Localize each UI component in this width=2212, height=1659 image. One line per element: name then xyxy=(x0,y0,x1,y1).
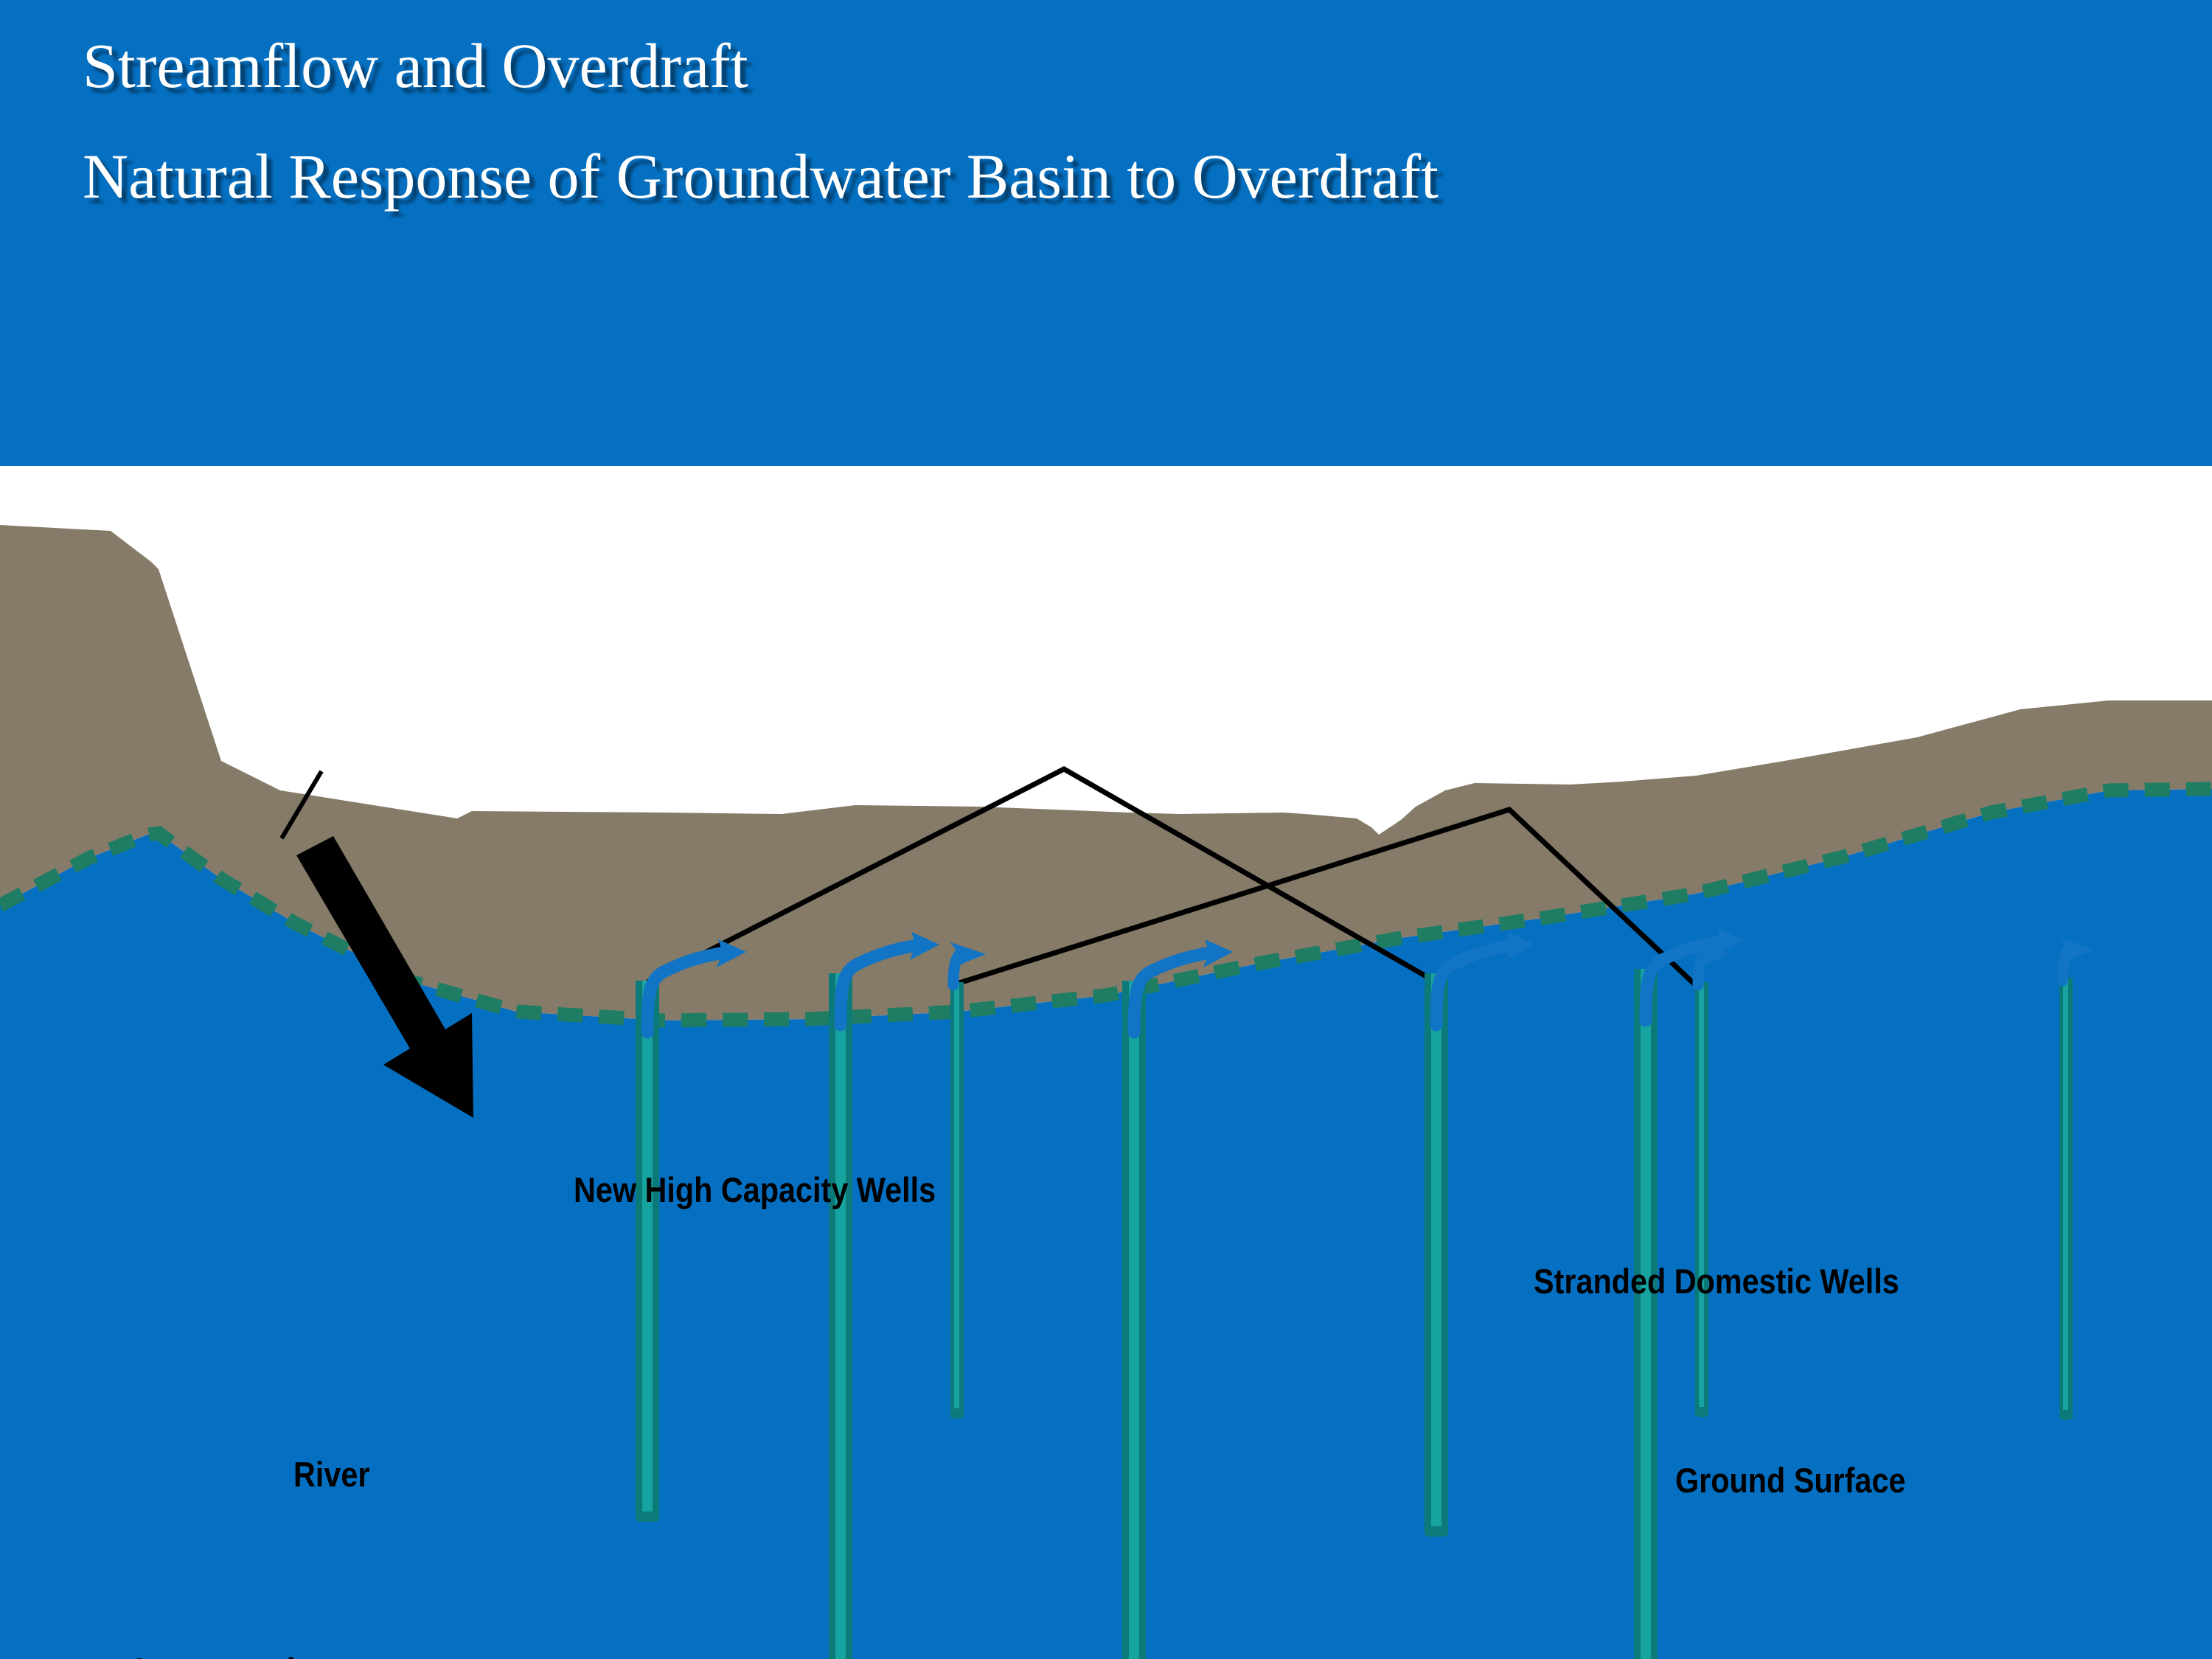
slide-root: Streamflow and Overdraft Natural Respons… xyxy=(0,0,2212,1659)
leakage-line-1: Increased xyxy=(83,1649,348,1659)
slide-title-line-2: Natural Response of Groundwater Basin to… xyxy=(83,145,1439,208)
label-new-high-capacity-wells: New High Capacity Wells xyxy=(574,1169,936,1210)
slide-title-line-1: Streamflow and Overdraft xyxy=(83,34,748,97)
label-ground-surface: Ground Surface xyxy=(1675,1460,1906,1500)
label-increased-leakage-from-river: Increased Leakage from River xyxy=(83,1649,348,1659)
cross-section-diagram: New High Capacity Wells Stranded Domesti… xyxy=(0,466,2212,1659)
label-stranded-domestic-wells: Stranded Domestic Wells xyxy=(1534,1261,1899,1301)
label-river: River xyxy=(293,1454,369,1495)
title-band: Streamflow and Overdraft Natural Respons… xyxy=(0,0,2212,466)
